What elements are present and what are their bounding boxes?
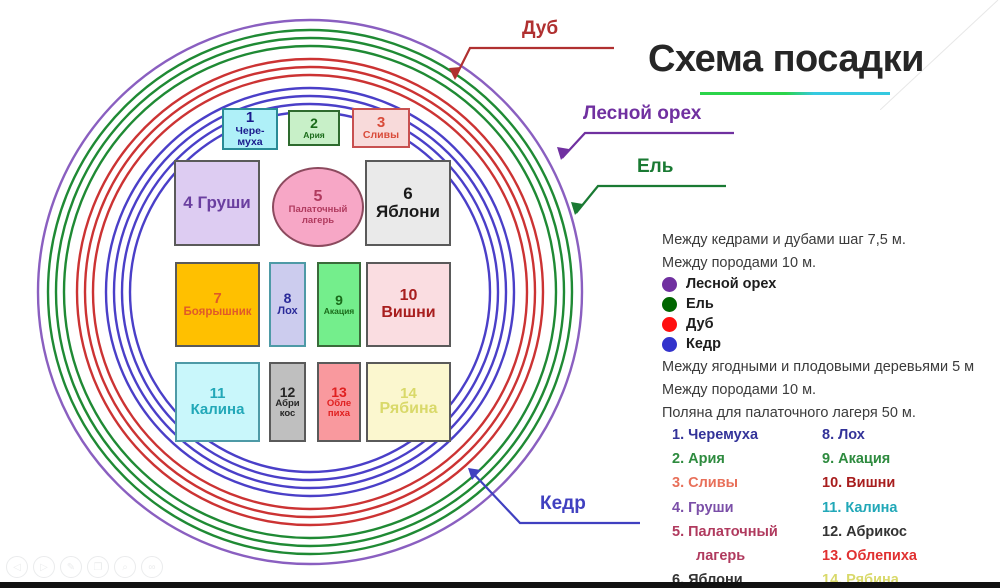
species-list-item: 9. Акация: [822, 451, 890, 467]
plot-number: 9: [335, 293, 343, 308]
pen-icon[interactable]: ✎: [60, 556, 82, 578]
plot-number: 14: [400, 386, 417, 402]
note-spacing-cedar-oak: Между кедрами и дубами шаг 7,5 м.: [662, 232, 906, 248]
plot-number: 12: [280, 385, 296, 400]
plot-14[interactable]: 14Рябина: [366, 362, 451, 442]
legend-label: Ель: [686, 296, 714, 312]
legend-color-dot: [662, 317, 677, 332]
plot-number: 5: [314, 188, 323, 206]
species-list-item: 3. Сливы: [672, 475, 738, 491]
legend-item-0: Лесной орех: [662, 276, 776, 292]
legend-label: Лесной орех: [686, 276, 776, 292]
plot-number: 7: [213, 291, 221, 307]
plot-4[interactable]: 4 Груши: [174, 160, 260, 246]
plot-number: 10: [400, 288, 418, 305]
plot-6[interactable]: 6Яблони: [365, 160, 451, 246]
plot-1[interactable]: 1Чере- муха: [222, 108, 278, 150]
play-icon[interactable]: ▷: [33, 556, 55, 578]
species-list-item: лагерь: [696, 548, 745, 564]
ring-cedar: [106, 88, 514, 496]
species-list-item: 10. Вишни: [822, 475, 895, 491]
title-underline: [700, 92, 890, 95]
plot-label: Акация: [324, 307, 355, 316]
concentric-ring-diagram: [0, 0, 620, 588]
species-list-item: 4. Груши: [672, 500, 734, 516]
note-spacing-berry-fruit: Между ягодными и плодовыми деревьями 5 м: [662, 359, 974, 375]
plot-12[interactable]: 12Абри кос: [269, 362, 306, 442]
copy-icon[interactable]: ❐: [87, 556, 109, 578]
corner-fold-decoration: [880, 0, 1000, 110]
plot-3[interactable]: 3Сливы: [352, 108, 410, 148]
plot-camp-5[interactable]: 5 Палаточный лагерь: [272, 167, 364, 247]
species-list-item: 1. Черемуха: [672, 427, 758, 443]
note-spacing-species-1: Между породами 10 м.: [662, 255, 816, 271]
plot-9[interactable]: 9Акация: [317, 262, 361, 347]
plot-label: Ария: [303, 131, 325, 140]
callout-label-oak: Дуб: [522, 18, 558, 40]
species-list-item: 5. Палаточный: [672, 524, 778, 540]
plot-number: 8: [284, 291, 292, 306]
plot-number: 13: [331, 385, 347, 400]
note-spacing-species-2: Между породами 10 м.: [662, 382, 816, 398]
plot-label: Лох: [277, 306, 297, 318]
legend-label: Кедр: [686, 336, 721, 352]
callout-label-cedar: Кедр: [540, 493, 586, 515]
plot-number: 11: [210, 386, 226, 402]
note-camp-clearing: Поляна для палаточного лагеря 50 м.: [662, 405, 916, 421]
plot-label: Калина: [191, 402, 245, 418]
plot-11[interactable]: 11Калина: [175, 362, 260, 442]
callout-label-hazel: Лесной орех: [583, 103, 701, 125]
species-list-item: 12. Абрикос: [822, 524, 907, 540]
species-list-item: 8. Лох: [822, 427, 865, 443]
legend-color-dot: [662, 337, 677, 352]
species-list-item: 13. Облепиха: [822, 548, 917, 564]
legend-item-3: Кедр: [662, 336, 721, 352]
plot-label: Рябина: [379, 401, 437, 418]
callout-label-spruce: Ель: [637, 156, 673, 178]
legend-color-dot: [662, 277, 677, 292]
plot-2[interactable]: 2Ария: [288, 110, 340, 146]
plot-number: 4 Груши: [183, 194, 250, 212]
legend-color-dot: [662, 297, 677, 312]
plot-label: Чере- муха: [236, 126, 265, 148]
plot-number: 6: [403, 185, 412, 203]
plot-7[interactable]: 7Боярышник: [175, 262, 260, 347]
plot-label: Яблони: [376, 203, 440, 221]
plot-10[interactable]: 10Вишни: [366, 262, 451, 347]
plot-label: Сливы: [363, 130, 399, 141]
plot-label: Обле пиха: [327, 399, 351, 419]
ring-spruce: [48, 30, 572, 554]
plot-label: Боярышник: [183, 306, 251, 318]
plot-label: Палаточный лагерь: [289, 205, 348, 226]
watermark-toolbar[interactable]: ◁▷✎❐⌕∞: [6, 556, 163, 578]
plot-13[interactable]: 13Обле пиха: [317, 362, 361, 442]
species-list-item: 2. Ария: [672, 451, 725, 467]
plot-number: 1: [246, 110, 254, 126]
legend-label: Дуб: [686, 316, 714, 332]
legend-item-2: Дуб: [662, 316, 714, 332]
planting-scheme-slide: { "title": "Схема посадки", "callouts": …: [0, 0, 1000, 588]
ring-hazel: [38, 20, 582, 564]
plot-number: 2: [310, 116, 318, 131]
bottom-bar: [0, 582, 1000, 588]
species-list-item: 11. Калина: [822, 500, 897, 516]
zoom-icon[interactable]: ⌕: [114, 556, 136, 578]
plot-number: 3: [377, 115, 385, 131]
volume-icon[interactable]: ◁: [6, 556, 28, 578]
plot-8[interactable]: 8Лох: [269, 262, 306, 347]
plot-label: Вишни: [381, 305, 435, 322]
link-icon[interactable]: ∞: [141, 556, 163, 578]
plot-label: Абри кос: [275, 399, 299, 419]
legend-item-1: Ель: [662, 296, 714, 312]
